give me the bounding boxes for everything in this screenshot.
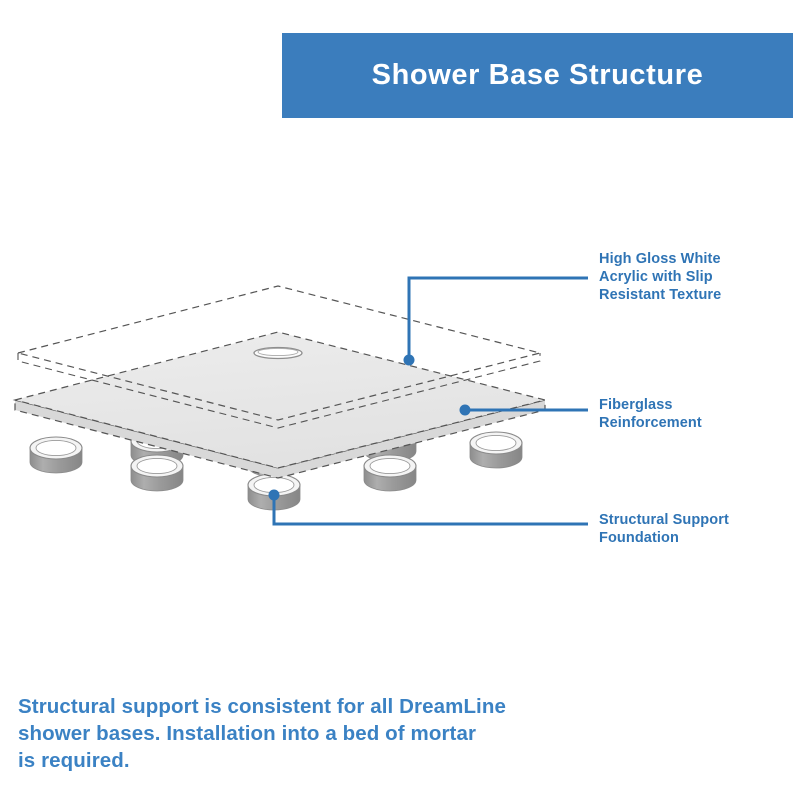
support-ring (364, 455, 416, 491)
callout-fiberglass-line-1: Fiberglass (599, 396, 799, 414)
diagram-stage (0, 0, 800, 680)
callout-fiberglass-line-2: Reinforcement (599, 414, 799, 432)
leader-line-acrylic (404, 278, 589, 366)
shower-base-exploded-diagram (0, 0, 800, 680)
drain-opening-icon (254, 348, 302, 359)
callout-label-foundation: Structural Support Foundation (599, 511, 799, 547)
caption-line-1: Structural support is consistent for all… (18, 693, 578, 720)
callout-acrylic-line-3: Resistant Texture (599, 286, 799, 304)
callout-acrylic-line-1: High Gloss White (599, 250, 799, 268)
support-ring (131, 455, 183, 491)
leader-line-foundation (269, 490, 589, 525)
caption-line-2: shower bases. Installation into a bed of… (18, 720, 578, 747)
bottom-caption: Structural support is consistent for all… (18, 693, 578, 774)
callout-foundation-line-2: Foundation (599, 529, 799, 547)
callout-label-acrylic: High Gloss White Acrylic with Slip Resis… (599, 250, 799, 304)
callout-foundation-line-1: Structural Support (599, 511, 799, 529)
support-ring (30, 437, 82, 473)
callout-label-fiberglass: Fiberglass Reinforcement (599, 396, 799, 432)
support-ring (470, 432, 522, 468)
caption-line-3: is required. (18, 747, 578, 774)
callout-acrylic-line-2: Acrylic with Slip (599, 268, 799, 286)
